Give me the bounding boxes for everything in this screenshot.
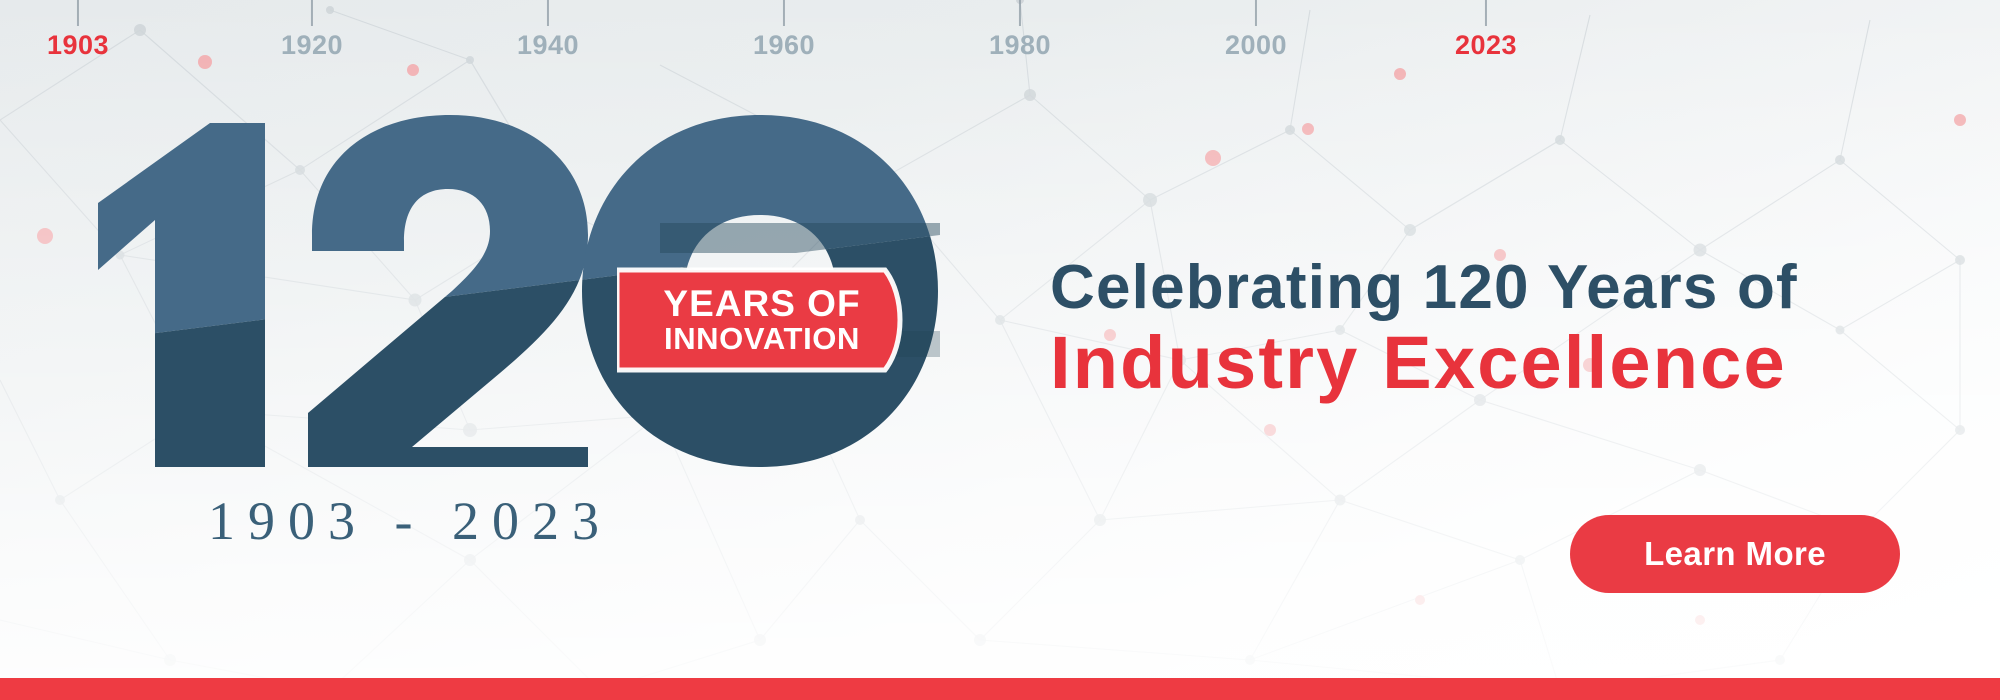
anniversary-banner: 1903 1920 1940 1960 1980 2000 2023 (0, 0, 2000, 700)
timeline-tick (77, 0, 79, 26)
timeline-tick (783, 0, 785, 26)
timeline-mark: 2000 (1225, 0, 1287, 59)
bottom-accent-bar (0, 678, 2000, 700)
headline-line-2: Industry Excellence (1050, 324, 1950, 402)
timeline-mark: 2023 (1455, 0, 1517, 59)
badge-line-1: YEARS OF (663, 285, 860, 323)
years-of-innovation-badge: YEARS OF INNOVATION (617, 266, 927, 374)
timeline-year-label: 2000 (1225, 32, 1287, 59)
timeline-mark: 1940 (517, 0, 579, 59)
timeline-tick (311, 0, 313, 26)
timeline-year-label: 1903 (47, 32, 109, 59)
badge-line-2: INNOVATION (664, 323, 860, 355)
timeline-year-label: 1960 (753, 32, 815, 59)
timeline-mark: 1980 (989, 0, 1051, 59)
timeline-axis: 1903 1920 1940 1960 1980 2000 2023 (0, 0, 2000, 80)
learn-more-button[interactable]: Learn More (1570, 515, 1900, 593)
cta-row: Learn More (1050, 515, 1950, 593)
timeline-tick (1485, 0, 1487, 26)
timeline-year-label: 2023 (1455, 32, 1517, 59)
timeline-mark: 1960 (753, 0, 815, 59)
timeline-tick (1255, 0, 1257, 26)
timeline-mark: 1920 (281, 0, 343, 59)
timeline-year-label: 1940 (517, 32, 579, 59)
headline-block: Celebrating 120 Years of Industry Excell… (1050, 255, 1950, 402)
timeline-tick (1019, 0, 1021, 26)
timeline-year-label: 1920 (281, 32, 343, 59)
timeline-tick (547, 0, 549, 26)
headline-line-1: Celebrating 120 Years of (1050, 255, 1950, 320)
timeline-year-label: 1980 (989, 32, 1051, 59)
logo-date-range: 1903 - 2023 (60, 490, 760, 552)
timeline-mark: 1903 (47, 0, 109, 59)
